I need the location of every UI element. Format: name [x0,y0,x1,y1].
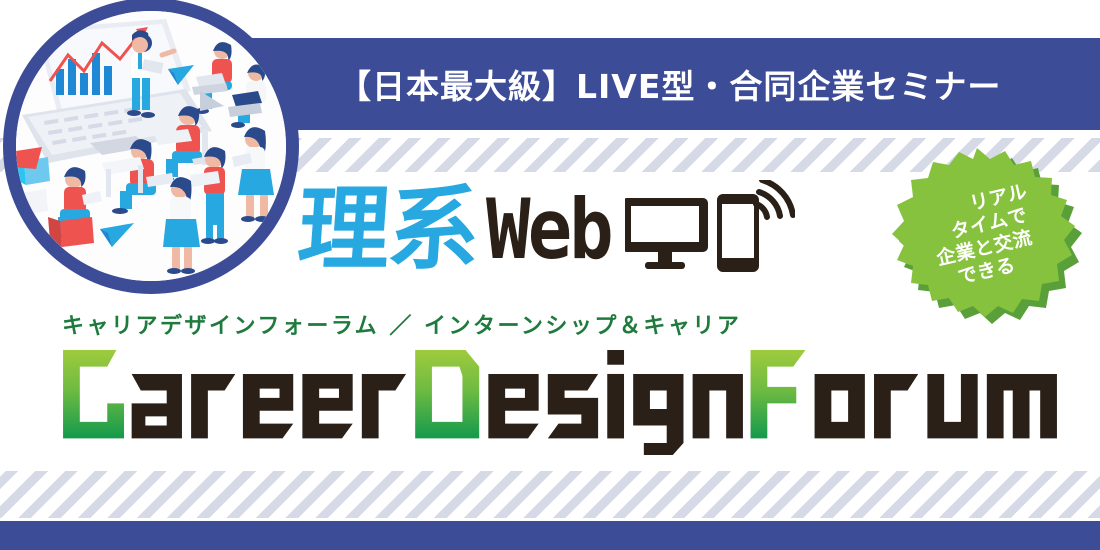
footer-band [0,521,1100,550]
wordmark-letter-D [415,350,479,438]
wordmark-letter-i [607,350,624,438]
wordmark-letter-r1 [191,374,235,438]
wifi-waves-icon [756,180,793,217]
wordmark-letter-r3 [874,374,918,438]
career-design-forum-wordmark [60,350,1060,455]
wordmark-letter-u [927,374,977,438]
logo-web-text: Web [486,188,611,271]
wordmark-letter-e3 [488,374,538,438]
header-band: 【日本最大級】LIVE型・合同企業セミナー [248,38,1100,130]
illustration-circle [16,11,286,281]
wordmark-letter-s [548,374,598,438]
device-icons-group [625,180,795,280]
wordmark-letter-e2 [302,374,352,438]
promo-banner: 【日本最大級】LIVE型・合同企業セミナー [0,0,1100,550]
header-title: 【日本最大級】LIVE型・合同企業セミナー [338,60,1001,108]
wordmark-letter-C [63,350,124,438]
main-logo: 理系 Web [298,172,795,287]
smartphone-icon [717,194,759,272]
wordmark-letter-m [987,374,1057,438]
monitor-icon [625,198,708,269]
starburst-shape [884,148,1084,326]
wordmark-letter-F [751,350,806,438]
wordmark-letter-e1 [243,374,293,438]
logo-kanji-rikei: 理系 [295,184,481,276]
wordmark-letter-g [633,374,683,455]
isometric-web-seminar-illustration [16,11,286,281]
wordmark-letter-a [132,374,182,438]
illustration-ring [3,0,299,294]
status-badge: リアル タイムで 企業と交流 できる [884,148,1084,326]
wordmark-letter-o [815,374,865,438]
wordmark-letter-n [693,374,743,438]
stripe-band-bottom [0,471,1100,518]
wordmark-letter-r2 [362,374,406,438]
subtitle-text: キャリアデザインフォーラム ／ インターンシップ＆キャリア [62,308,741,340]
